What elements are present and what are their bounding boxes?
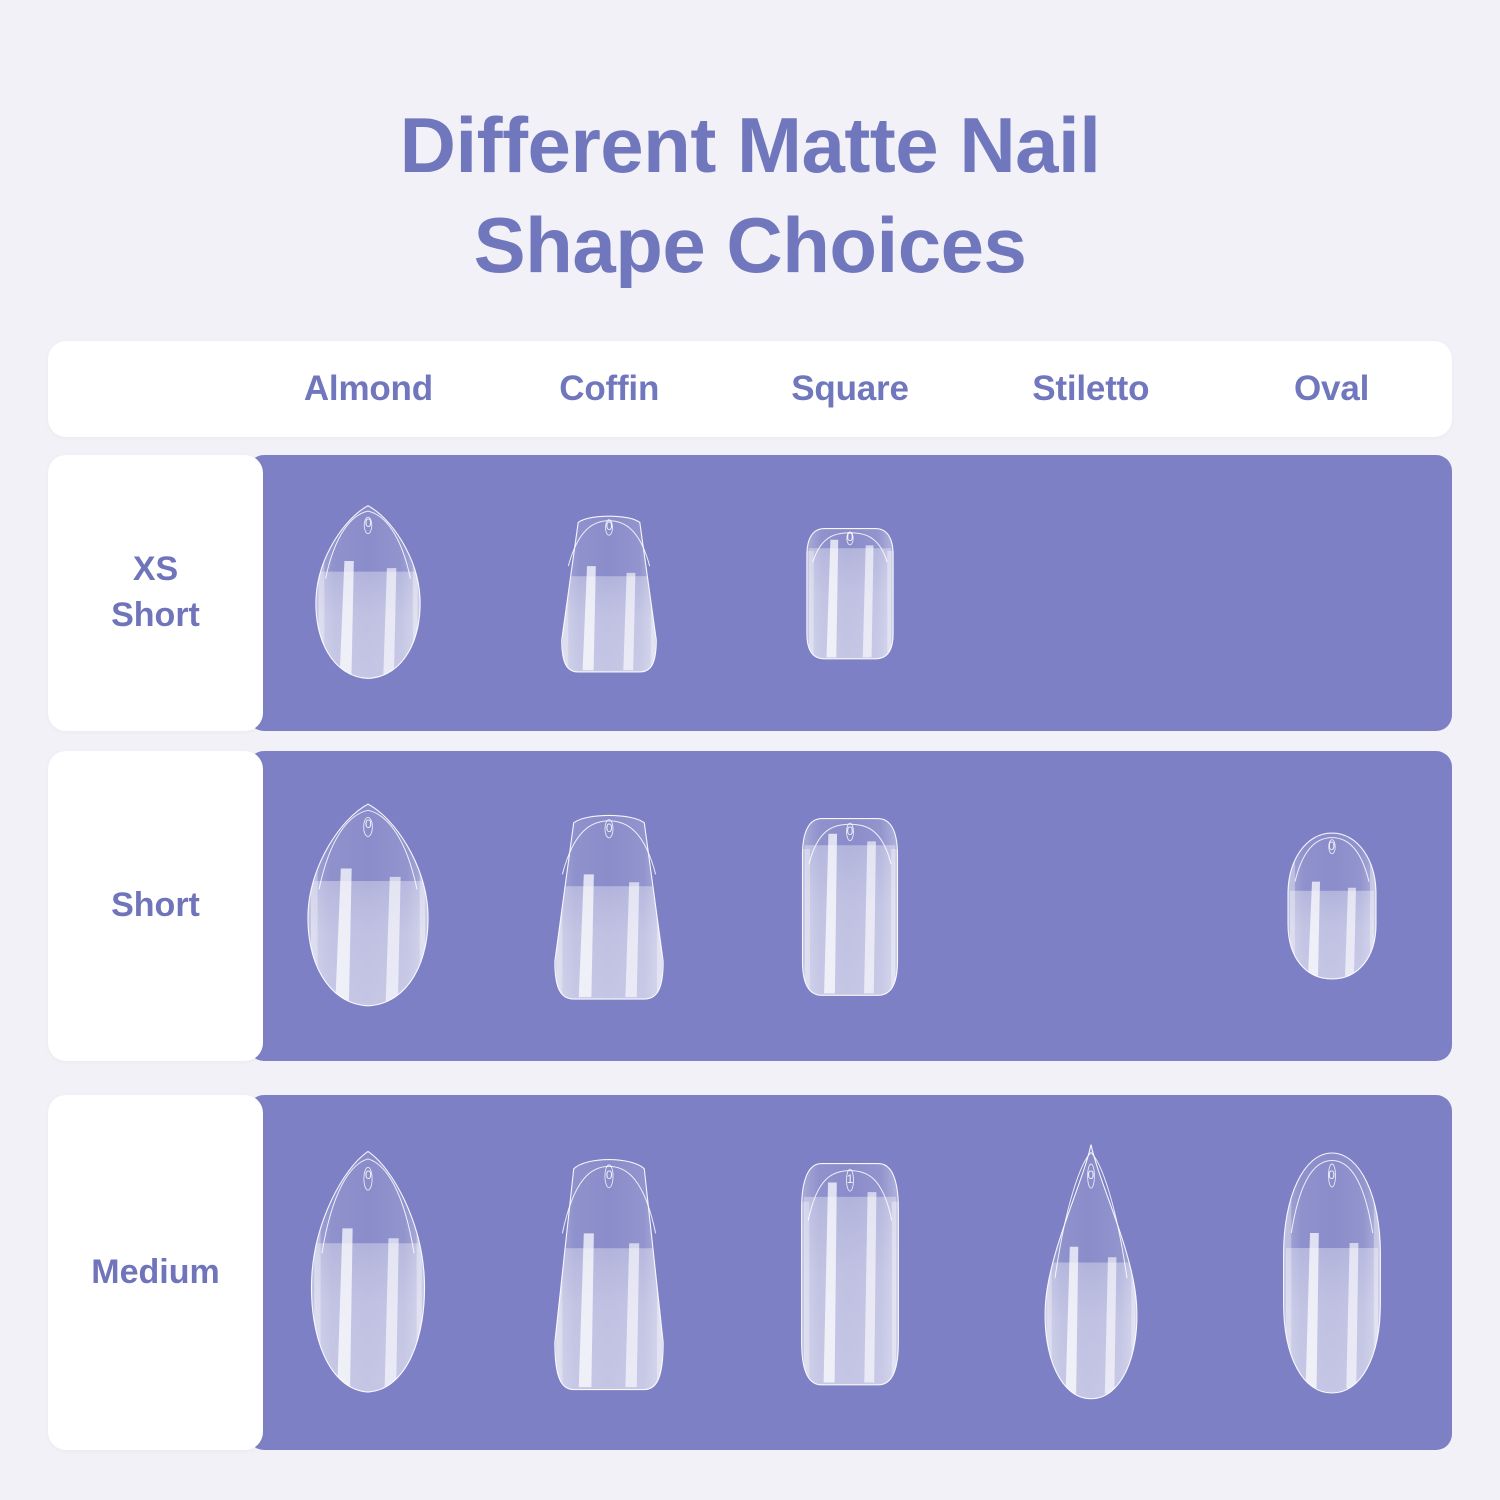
nail-edge-sheen-left bbox=[316, 540, 324, 675]
nail-matte-fill bbox=[805, 845, 896, 1001]
nail-matte-fill bbox=[315, 1243, 423, 1397]
nail-tip-coffin: 0 bbox=[546, 807, 672, 1005]
shape-header-card: AlmondCoffinSquareStilettoOval bbox=[48, 341, 1452, 437]
row-panel-short: 0 0 bbox=[248, 751, 1452, 1061]
nail-edge-sheen-left bbox=[1044, 1194, 1051, 1393]
nail-tip-almond: 0 bbox=[309, 504, 427, 682]
cell-medium-square: 1 bbox=[730, 1095, 971, 1450]
nail-matte-fill bbox=[1046, 1262, 1135, 1403]
nail-edge-sheen-right bbox=[417, 1198, 425, 1386]
cell-medium-oval: 0 bbox=[1211, 1095, 1452, 1450]
nail-shape-svg-almond bbox=[309, 504, 427, 682]
page-title-line-2: Shape Choices bbox=[0, 196, 1500, 296]
nail-shape-svg-oval bbox=[1277, 1148, 1387, 1398]
row-panel-xs-short: 0 0 bbox=[248, 455, 1452, 731]
nail-edge-sheen-left bbox=[312, 1198, 321, 1386]
nail-edge-sheen-right bbox=[1373, 1198, 1380, 1388]
cell-xs-short-oval bbox=[1211, 455, 1452, 731]
cell-xs-short-square: 0 bbox=[730, 455, 971, 731]
nail-matte-fill bbox=[311, 881, 425, 1010]
shape-header-square: Square bbox=[730, 369, 971, 409]
cell-medium-almond: 0 bbox=[248, 1095, 489, 1450]
nail-tip-square: 0 bbox=[801, 523, 899, 663]
shape-header-coffin: Coffin bbox=[489, 369, 730, 409]
row-label-text: XS Short bbox=[111, 547, 200, 639]
nail-shape-svg-square bbox=[795, 1154, 905, 1392]
nail-matte-fill bbox=[1285, 1248, 1377, 1398]
nail-edge-sheen-right bbox=[892, 1201, 899, 1382]
nail-matte-fill bbox=[809, 548, 891, 663]
cell-xs-short-stiletto bbox=[970, 455, 1211, 731]
nail-shape-svg-coffin bbox=[554, 509, 664, 677]
nail-shape-chart-page: Different Matte Nail Shape Choices Almon… bbox=[0, 0, 1500, 1500]
page-title-line-1: Different Matte Nail bbox=[0, 96, 1500, 196]
nail-shape-svg-stiletto bbox=[1038, 1142, 1144, 1404]
nail-edge-sheen-left bbox=[802, 1201, 810, 1382]
shape-header-almond: Almond bbox=[248, 369, 489, 409]
row-panel-medium: 0 0 bbox=[248, 1095, 1452, 1450]
nail-matte-fill bbox=[556, 886, 662, 1005]
nail-edge-sheen-left bbox=[309, 844, 319, 1002]
cell-short-almond: 0 bbox=[248, 751, 489, 1061]
cell-medium-stiletto: 0 bbox=[970, 1095, 1211, 1450]
nail-edge-sheen-right bbox=[420, 844, 428, 1002]
row-label-text: Medium bbox=[91, 1250, 219, 1296]
nail-shape-svg-square bbox=[796, 811, 904, 1001]
shape-header-stiletto: Stiletto bbox=[970, 369, 1211, 409]
nail-shape-svg-coffin bbox=[546, 807, 672, 1005]
nail-edge-sheen-right bbox=[887, 551, 893, 657]
cell-short-coffin: 0 bbox=[489, 751, 730, 1061]
row-label-card-short: Short bbox=[48, 751, 263, 1061]
nail-shape-svg-oval bbox=[1282, 830, 1382, 982]
nail-tip-coffin: 0 bbox=[554, 509, 664, 677]
nail-matte-fill bbox=[804, 1196, 896, 1391]
nail-edge-sheen-right bbox=[891, 849, 897, 993]
nail-matte-fill bbox=[556, 1248, 662, 1397]
shape-header-columns: AlmondCoffinSquareStilettoOval bbox=[248, 341, 1452, 437]
nail-shape-svg-almond bbox=[300, 802, 436, 1010]
row-label-text: Short bbox=[111, 883, 200, 929]
cell-medium-coffin: 0 bbox=[489, 1095, 730, 1450]
nail-edge-sheen-right bbox=[1131, 1194, 1137, 1393]
row-label-card-xs-short: XS Short bbox=[48, 455, 263, 731]
nail-tip-square: 0 bbox=[796, 811, 904, 1001]
nail-matte-fill bbox=[563, 576, 655, 677]
cell-short-oval: 0 bbox=[1211, 751, 1452, 1061]
nail-tip-oval: 0 bbox=[1277, 1148, 1387, 1398]
nail-edge-sheen-right bbox=[413, 540, 420, 675]
nail-tip-almond: 0 bbox=[300, 802, 436, 1010]
nail-tip-square: 1 bbox=[795, 1154, 905, 1392]
nail-shape-svg-coffin bbox=[546, 1149, 672, 1397]
nail-tip-coffin: 0 bbox=[546, 1149, 672, 1397]
shape-header-oval: Oval bbox=[1211, 369, 1452, 409]
nail-tip-stiletto: 0 bbox=[1038, 1142, 1144, 1404]
nail-edge-sheen-left bbox=[807, 551, 814, 657]
row-label-card-medium: Medium bbox=[48, 1095, 263, 1450]
row-medium: Medium 0 bbox=[48, 1095, 1452, 1450]
nail-edge-sheen-left bbox=[802, 849, 810, 993]
cell-xs-short-coffin: 0 bbox=[489, 455, 730, 731]
row-short: Short 0 bbox=[48, 751, 1452, 1061]
page-title: Different Matte Nail Shape Choices bbox=[0, 96, 1500, 296]
row-xs-short: XS Short 0 bbox=[48, 455, 1452, 731]
nail-shape-svg-square bbox=[801, 523, 899, 663]
nail-tip-almond: 0 bbox=[304, 1149, 432, 1397]
nail-tip-oval: 0 bbox=[1282, 830, 1382, 982]
cell-xs-short-almond: 0 bbox=[248, 455, 489, 731]
nail-matte-fill bbox=[1290, 891, 1374, 982]
cell-short-stiletto bbox=[970, 751, 1211, 1061]
nail-shape-svg-almond bbox=[304, 1149, 432, 1397]
cell-short-square: 0 bbox=[730, 751, 971, 1061]
nail-matte-fill bbox=[319, 572, 418, 682]
